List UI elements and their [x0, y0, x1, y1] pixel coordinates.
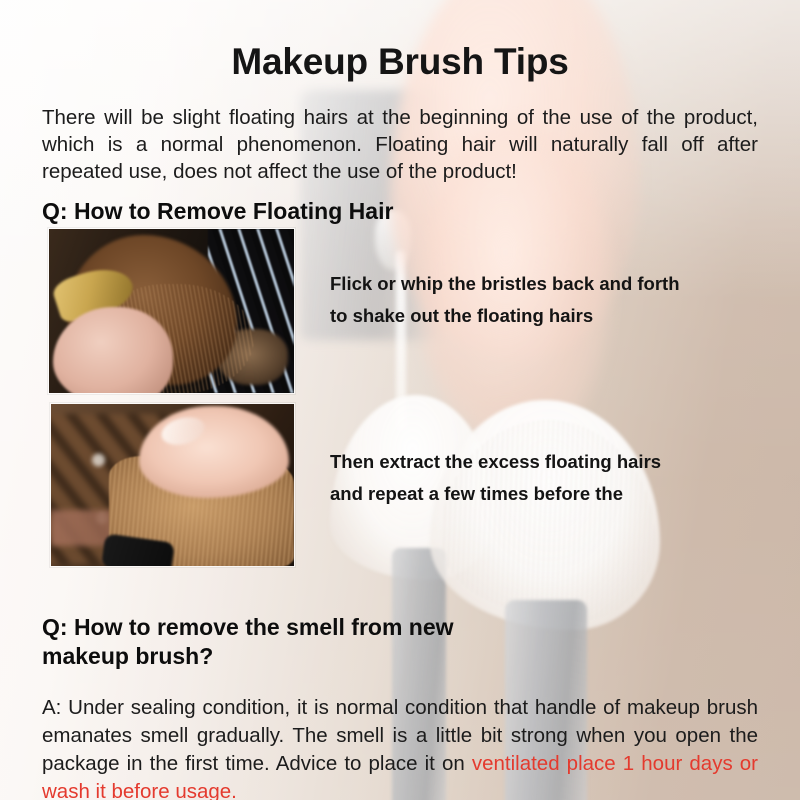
step-2-caption: Then extract the excess floating hairs a… [330, 446, 661, 510]
page-title: Makeup Brush Tips [0, 41, 800, 83]
step-2-caption-line-1: Then extract the excess floating hairs [330, 446, 661, 478]
step-2-caption-line-2: and repeat a few times before the [330, 478, 661, 510]
infographic-page: Makeup Brush Tips There will be slight f… [0, 0, 800, 800]
step-1-caption-line-1: Flick or whip the bristles back and fort… [330, 268, 680, 300]
step-2-photo [50, 403, 295, 567]
step-2-photo-inner [51, 404, 294, 566]
step-1-photo [48, 228, 295, 394]
question-heading-smell: Q: How to remove the smell from new make… [42, 613, 602, 671]
step-1-caption-line-2: to shake out the floating hairs [330, 300, 680, 332]
content-layer: Makeup Brush Tips There will be slight f… [0, 0, 800, 800]
intro-paragraph: There will be slight floating hairs at t… [42, 104, 758, 185]
question-heading-floating-hair: Q: How to Remove Floating Hair [42, 197, 393, 226]
step-1-photo-inner [49, 229, 294, 393]
step-1-caption: Flick or whip the bristles back and fort… [330, 268, 680, 332]
question-heading-smell-line-2: makeup brush? [42, 642, 602, 671]
question-heading-smell-line-1: Q: How to remove the smell from new [42, 613, 602, 642]
answer-paragraph-smell: A: Under sealing condition, it is normal… [42, 694, 758, 800]
